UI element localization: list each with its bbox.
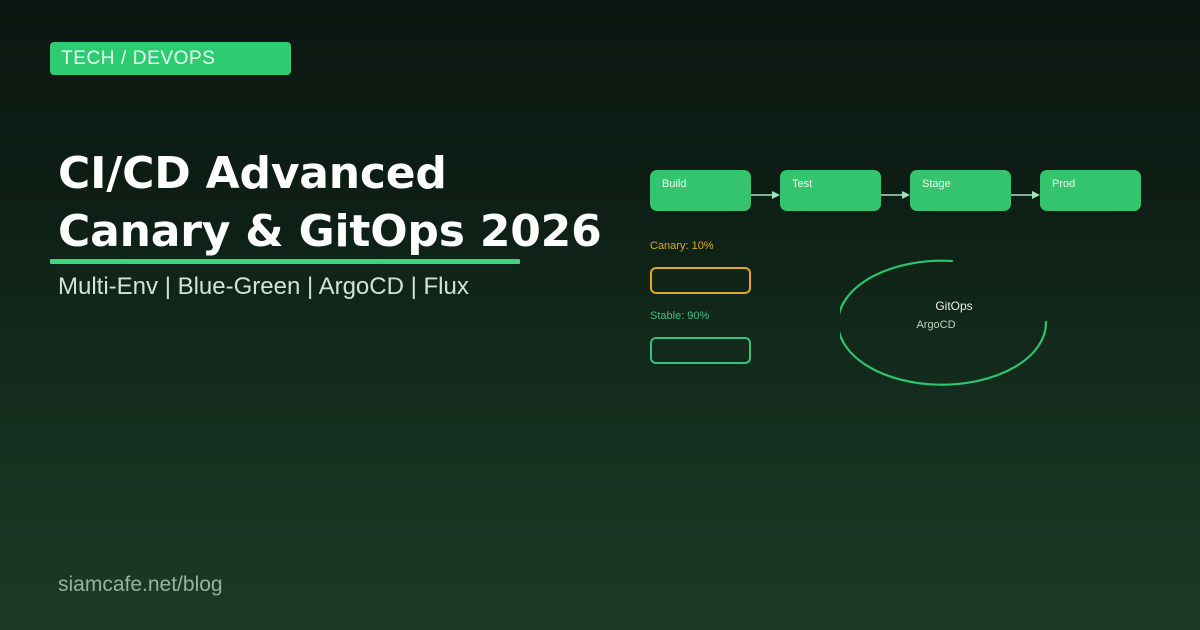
page-title: CI/CD Advanced Canary & GitOps 2026 [58, 145, 678, 261]
pipeline-arrow-icon [881, 185, 910, 195]
page-title-line-2: Canary & GitOps 2026 [58, 203, 678, 261]
rollout-bar-canary[interactable] [650, 267, 751, 294]
footer-url: siamcafe.net/blog [58, 572, 223, 598]
rollout-label-stable: Stable: 90% [650, 310, 709, 323]
pipeline-stage-label: Test [792, 178, 812, 191]
slide-canvas: TECH / DEVOPS CI/CD Advanced Canary & Gi… [0, 0, 1200, 630]
pipeline-stage-stage[interactable]: Stage [910, 170, 1011, 211]
gitops-ring-secondary-label: ArgoCD [866, 319, 1006, 332]
title-divider [50, 259, 520, 264]
pipeline-stage-label: Build [662, 178, 686, 191]
pipeline-stage-prod[interactable]: Prod [1040, 170, 1141, 211]
pipeline-arrow-icon [1011, 185, 1040, 195]
cicd-diagram: BuildTestStageProd Canary: 10%Stable: 90… [640, 150, 1180, 400]
rollout-bar-stable[interactable] [650, 337, 751, 364]
pipeline-stage-label: Prod [1052, 178, 1075, 191]
category-badge-label: TECH / DEVOPS [61, 49, 216, 68]
pipeline-stage-build[interactable]: Build [650, 170, 751, 211]
rollout-label-canary: Canary: 10% [650, 240, 714, 253]
gitops-ring: GitOps ArgoCD [840, 250, 1070, 394]
gitops-ring-primary-label: GitOps [884, 299, 1024, 313]
subtitle: Multi-Env | Blue-Green | ArgoCD | Flux [58, 272, 469, 302]
category-badge: TECH / DEVOPS [50, 42, 291, 75]
page-title-line-1: CI/CD Advanced [58, 145, 678, 203]
pipeline-stage-test[interactable]: Test [780, 170, 881, 211]
pipeline-stage-label: Stage [922, 178, 951, 191]
pipeline-arrow-icon [751, 185, 780, 195]
